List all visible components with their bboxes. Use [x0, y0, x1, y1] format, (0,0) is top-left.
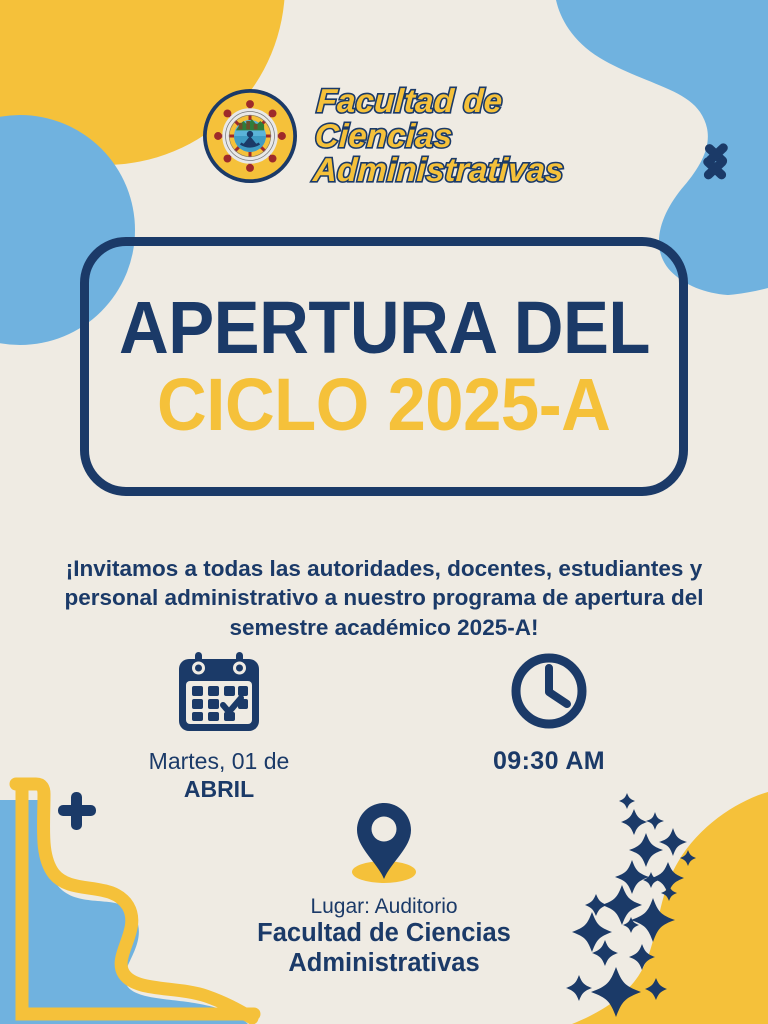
detail-time: 09:30 AM — [434, 650, 664, 776]
detail-place: Lugar: Auditorio Facultad de Ciencias Ad… — [174, 800, 594, 979]
place-prefix: Lugar: Auditorio — [310, 895, 457, 919]
date-text: Martes, 01 de ABRIL — [149, 748, 290, 803]
title-line-secondary: CICLO 2025-A — [157, 367, 610, 443]
organization-name: Facultad de Ciencias Administrativas — [312, 84, 568, 188]
time-value: 09:30 AM — [493, 746, 605, 776]
university-crest-logo — [203, 89, 297, 183]
place-name: Facultad de Ciencias Administrativas — [257, 919, 511, 979]
map-pin-icon — [347, 800, 421, 889]
event-title-box: APERTURA DEL CICLO 2025-A — [80, 237, 688, 496]
invitation-paragraph: ¡Invitamos a todas las autoridades, doce… — [64, 554, 704, 644]
poster-canvas: Facultad de Ciencias Administrativas APE… — [0, 0, 768, 1024]
poster-header: Facultad de Ciencias Administrativas — [0, 84, 768, 188]
calendar-icon — [175, 650, 263, 739]
clock-icon — [508, 650, 590, 737]
detail-date: Martes, 01 de ABRIL — [104, 650, 334, 803]
title-line-primary: APERTURA DEL — [119, 290, 650, 366]
event-details-row: Martes, 01 de ABRIL 09:30 AM — [0, 650, 768, 803]
date-line-1: Martes, 01 de — [149, 748, 290, 776]
time-text: 09:30 AM — [493, 746, 605, 776]
